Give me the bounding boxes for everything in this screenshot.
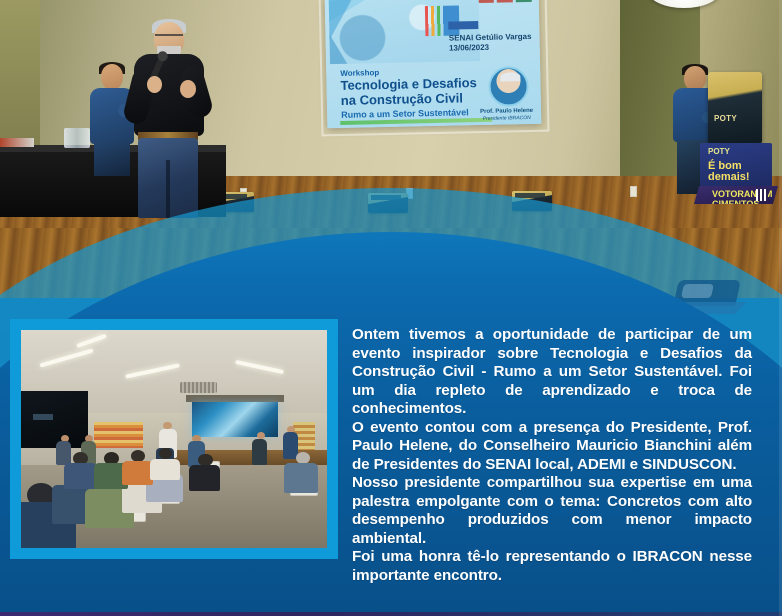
post-body-text: Ontem tivemos a oportunidade de particip…	[352, 326, 752, 585]
photo-audience-frame	[10, 319, 338, 559]
attendee-body	[122, 461, 153, 485]
head	[101, 64, 123, 90]
social-post-canvas: SENAI Getúlio Vargas 13/06/2023 Workshop…	[0, 0, 782, 616]
paragraph-3: Nosso presidente compartilhou sua expert…	[352, 474, 752, 548]
qr-code-icon	[756, 189, 768, 201]
water-glasses	[64, 128, 90, 148]
jeans	[138, 138, 198, 218]
hand-right	[180, 80, 196, 98]
projection-screen-frame	[319, 0, 550, 136]
attendee-body	[64, 463, 98, 489]
ceiling-vent	[180, 382, 217, 393]
projection-screen	[192, 402, 278, 437]
paragraph-4: Foi uma honra tê-lo representando o IBRA…	[352, 548, 752, 585]
poty-banner: POTY É bomdemais!	[700, 143, 772, 187]
paragraph-2: O evento contou com a presença do Presid…	[352, 419, 752, 475]
dark-window	[21, 391, 88, 448]
poty-banner-base: VOTORANTIM CIMENTOS	[694, 186, 778, 204]
poty-bag-label: POTY	[714, 114, 737, 123]
paragraph-1: Ontem tivemos a oportunidade de particip…	[352, 326, 752, 419]
wall-panel-left	[0, 0, 40, 160]
legs	[94, 142, 130, 176]
attendee-body	[189, 465, 220, 491]
screen-mount	[186, 395, 284, 402]
presenter-standing	[56, 441, 71, 465]
decorative-banner	[94, 422, 143, 448]
poty-cement-bag: POTY	[708, 72, 762, 144]
book-on-table	[0, 138, 34, 147]
poty-brand: POTY	[708, 147, 730, 156]
eyeglasses-icon	[155, 34, 183, 39]
presenter-standing	[252, 439, 267, 465]
bottom-accent-strip	[0, 612, 782, 616]
person-speaker-paulo-helene	[128, 22, 208, 212]
photo-audience	[21, 330, 327, 548]
wall-switch	[630, 186, 637, 197]
hand-left	[147, 76, 162, 93]
attendee-body	[150, 459, 181, 481]
poty-tagline: É bomdemais!	[708, 161, 750, 183]
attendee-body	[284, 463, 318, 494]
